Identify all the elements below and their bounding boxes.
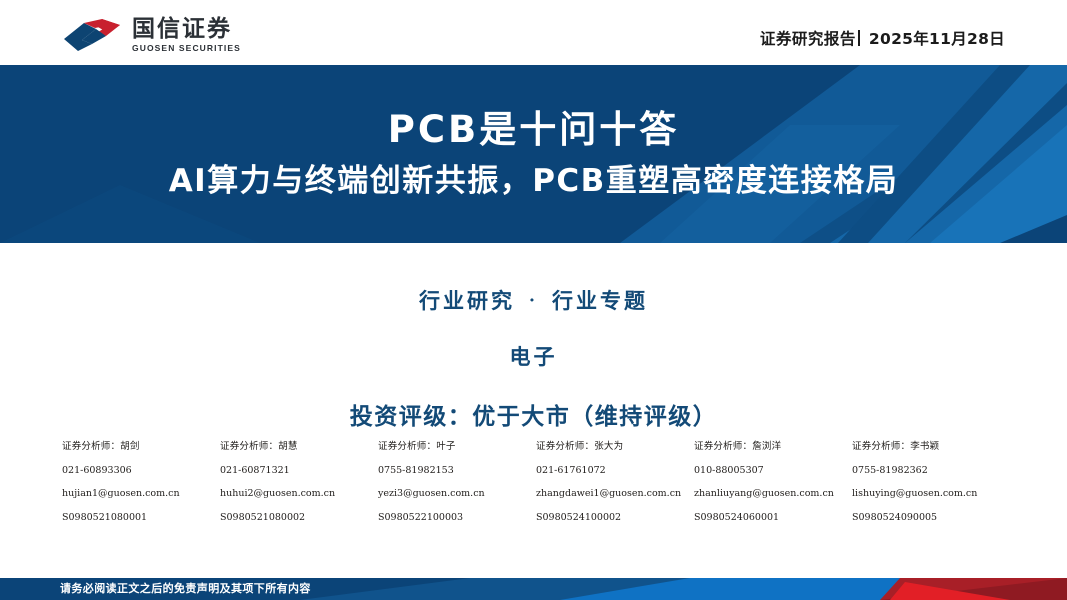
industry-name: 电子 [510, 341, 558, 371]
analyst-column: 证券分析师：李书颖 0755-81982362 lishuying@guosen… [852, 442, 1010, 536]
analyst-email[interactable]: lishuying@guosen.com.cn [852, 489, 1010, 499]
hero-banner: PCB是十问十答 AI算力与终端创新共振，PCB重塑高密度连接格局 [0, 65, 1067, 243]
analyst-phone: 010-88005307 [694, 466, 852, 476]
research-category-line: 行业研究·行业专题 [419, 285, 648, 315]
analyst-email[interactable]: huhui2@guosen.com.cn [220, 489, 378, 499]
category-left: 行业研究 [419, 288, 515, 313]
footer-disclaimer: 请务必阅读正文之后的免责声明及其项下所有内容 [60, 578, 311, 600]
analyst-name: 证券分析师：李书颖 [852, 442, 1010, 452]
header-divider [858, 30, 860, 46]
report-meta-block: 行业研究·行业专题 电子 投资评级：优于大市（维持评级） [0, 243, 1067, 433]
analyst-license: S0980524100002 [536, 513, 694, 523]
company-logo: 国信证券 GUOSEN SECURITIES [62, 17, 241, 53]
analyst-email[interactable]: zhanliuyang@guosen.com.cn [694, 489, 852, 499]
analyst-phone: 0755-81982362 [852, 466, 1010, 476]
category-separator-dot: · [529, 291, 538, 311]
analyst-name: 证券分析师：张大为 [536, 442, 694, 452]
analyst-email[interactable]: hujian1@guosen.com.cn [62, 489, 220, 499]
logo-english-name: GUOSEN SECURITIES [132, 43, 241, 53]
analyst-phone: 0755-81982153 [378, 466, 536, 476]
analyst-column: 证券分析师：胡慧 021-60871321 huhui2@guosen.com.… [220, 442, 378, 536]
header-report-meta: 证券研究报告 2025年11月28日 [760, 27, 1005, 49]
category-right: 行业专题 [552, 288, 648, 313]
analyst-license: S0980521080002 [220, 513, 378, 523]
analyst-phone: 021-60893306 [62, 466, 220, 476]
analyst-phone: 021-61761072 [536, 466, 694, 476]
analyst-email[interactable]: zhangdawei1@guosen.com.cn [536, 489, 694, 499]
report-type-label: 证券研究报告 [760, 27, 856, 49]
analyst-column: 证券分析师：叶子 0755-81982153 yezi3@guosen.com.… [378, 442, 536, 536]
report-title: PCB是十问十答 [388, 111, 679, 148]
logo-wordmark: 国信证券 GUOSEN SECURITIES [132, 17, 241, 53]
analyst-phone: 021-60871321 [220, 466, 378, 476]
analyst-name: 证券分析师：胡剑 [62, 442, 220, 452]
analyst-license: S0980521080001 [62, 513, 220, 523]
analyst-license: S0980522100003 [378, 513, 536, 523]
analyst-list: 证券分析师：胡剑 021-60893306 hujian1@guosen.com… [62, 442, 1012, 536]
analyst-name: 证券分析师：胡慧 [220, 442, 378, 452]
guosen-swoosh-logo-icon [62, 17, 124, 53]
analyst-license: S0980524060001 [694, 513, 852, 523]
analyst-column: 证券分析师：张大为 021-61761072 zhangdawei1@guose… [536, 442, 694, 536]
logo-chinese-name: 国信证券 [132, 17, 241, 41]
hero-text-block: PCB是十问十答 AI算力与终端创新共振，PCB重塑高密度连接格局 [0, 65, 1067, 243]
report-date: 2025年11月28日 [869, 27, 1005, 49]
analyst-license: S0980524090005 [852, 513, 1010, 523]
analyst-column: 证券分析师：詹浏洋 010-88005307 zhanliuyang@guose… [694, 442, 852, 536]
investment-rating: 投资评级：优于大市（维持评级） [350, 397, 718, 431]
report-cover-page: 国信证券 GUOSEN SECURITIES 证券研究报告 2025年11月28… [0, 0, 1067, 600]
analyst-name: 证券分析师：詹浏洋 [694, 442, 852, 452]
analyst-column: 证券分析师：胡剑 021-60893306 hujian1@guosen.com… [62, 442, 220, 536]
analyst-name: 证券分析师：叶子 [378, 442, 536, 452]
report-subtitle: AI算力与终端创新共振，PCB重塑高密度连接格局 [169, 166, 899, 197]
page-footer: 请务必阅读正文之后的免责声明及其项下所有内容 [0, 578, 1067, 600]
page-header: 国信证券 GUOSEN SECURITIES 证券研究报告 2025年11月28… [0, 0, 1067, 65]
analyst-email[interactable]: yezi3@guosen.com.cn [378, 489, 536, 499]
